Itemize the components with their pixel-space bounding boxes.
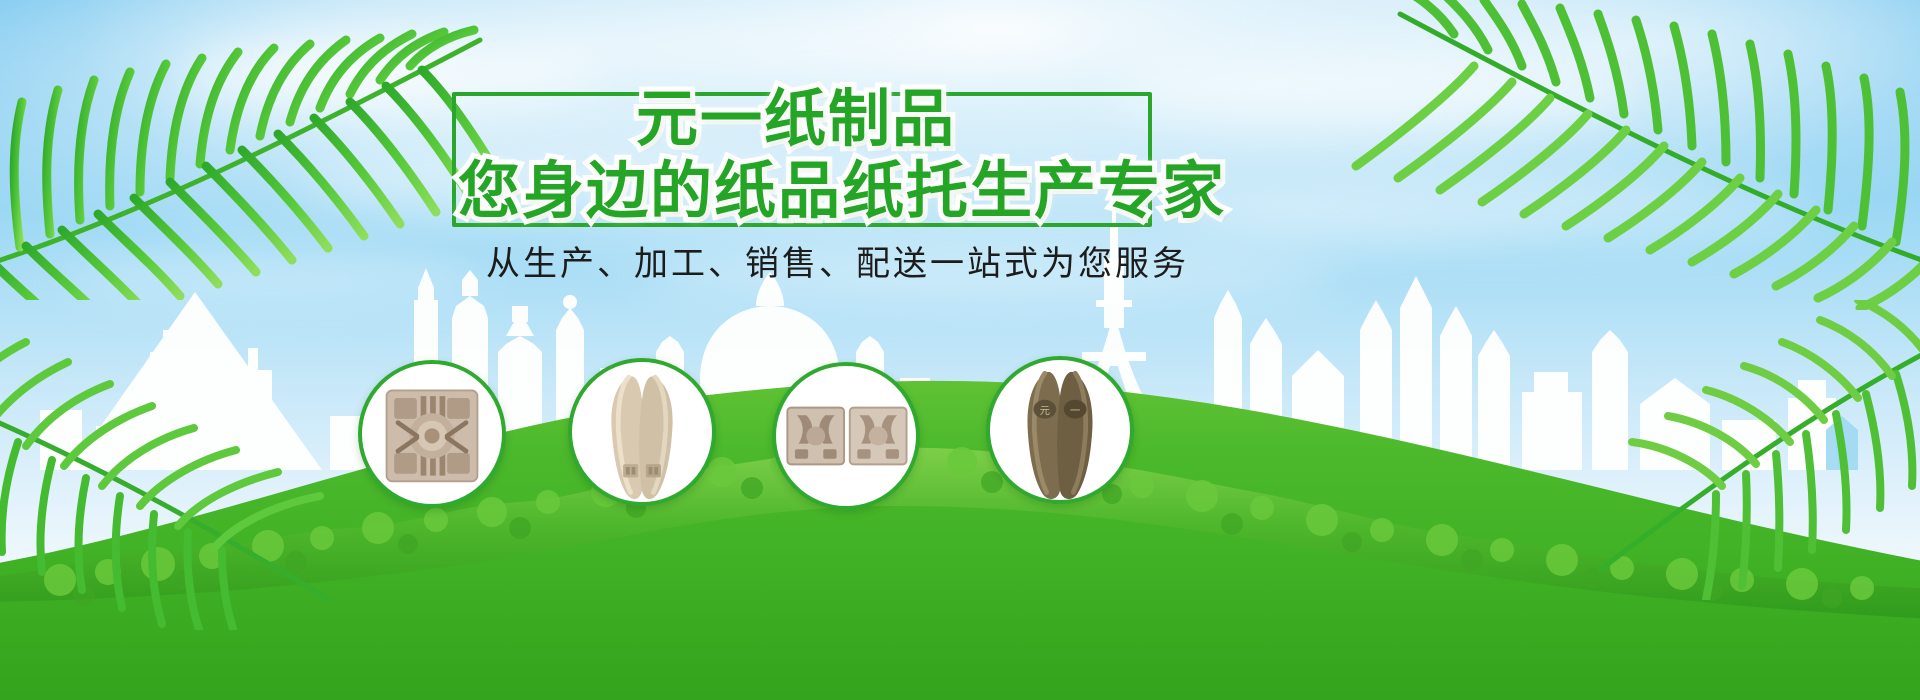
paper-pulp-square-tray-icon <box>362 364 502 504</box>
product-circle-3[interactable] <box>772 362 920 510</box>
svg-text:一: 一 <box>1070 405 1080 417</box>
paper-pulp-shoe-insert-light-icon <box>572 362 712 502</box>
paper-pulp-pair-of-trays-icon <box>776 366 916 506</box>
product-circle-2[interactable] <box>568 358 716 506</box>
product-circle-row: 元 一 <box>0 0 1920 700</box>
product-circle-4[interactable]: 元 一 <box>986 356 1134 504</box>
paper-pulp-shoe-insert-dark-icon: 元 一 <box>990 360 1130 500</box>
svg-text:元: 元 <box>1040 405 1050 417</box>
promo-banner: 元一纸制品 您身边的纸品纸托生产专家 从生产、加工、销售、配送一站式为您服务 <box>0 0 1920 700</box>
product-circle-1[interactable] <box>358 360 506 508</box>
